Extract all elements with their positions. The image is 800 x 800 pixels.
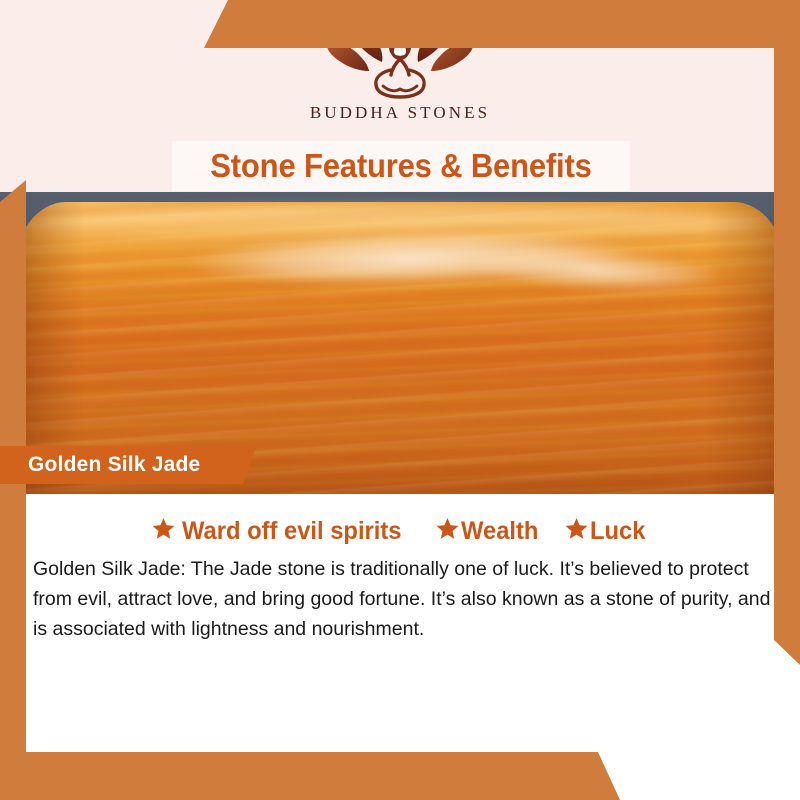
benefit-label: Luck: [590, 517, 645, 546]
stone-name-label: Golden Silk Jade: [28, 446, 200, 484]
frame-right: [774, 0, 800, 665]
description-paragraph: Golden Silk Jade: The Jade stone is trad…: [33, 554, 773, 644]
benefit-item: Ward off evil spirits: [152, 516, 413, 546]
benefits-list: Ward off evil spirits Wealth Luck: [0, 516, 800, 546]
star-icon: [565, 517, 588, 540]
star-icon: [436, 517, 459, 540]
stone-gloss-highlight: [40, 206, 760, 246]
benefit-label: Ward off evil spirits: [182, 517, 402, 546]
stone-features-poster: BUDDHA STONES Stone Features & Benefits …: [0, 0, 800, 800]
benefit-label: Wealth: [461, 517, 538, 546]
frame-left: [0, 180, 26, 800]
brand-name: BUDDHA STONES: [0, 103, 800, 123]
benefit-item: Wealth: [436, 516, 543, 546]
star-icon: [152, 517, 175, 540]
benefit-item: Luck: [565, 516, 648, 546]
page-title: Stone Features & Benefits: [186, 141, 617, 191]
